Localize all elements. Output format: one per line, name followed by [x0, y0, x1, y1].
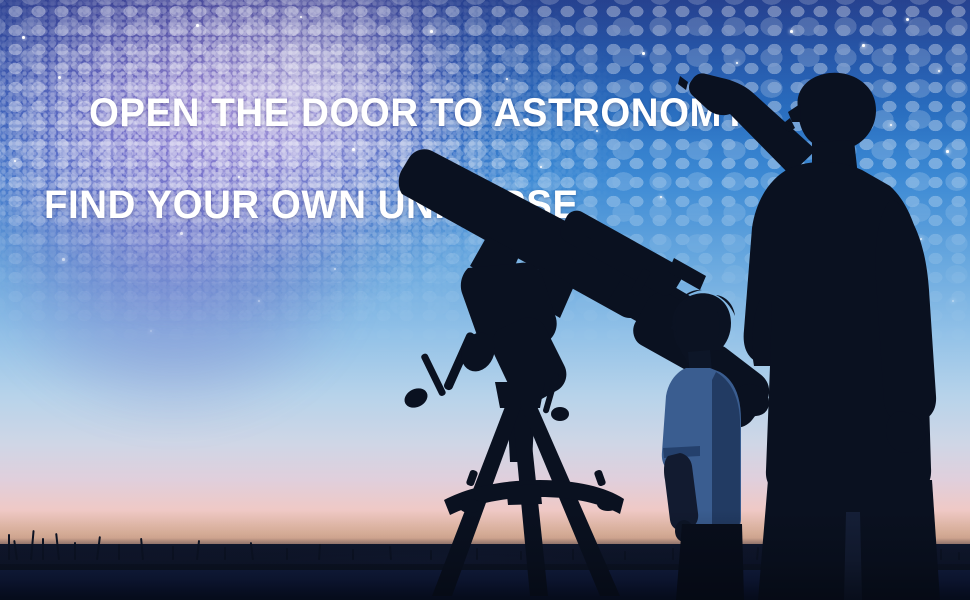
- man-silhouette: [0, 0, 970, 600]
- astronomy-hero-banner: OPEN THE DOOR TO ASTRONOMY FIND YOUR OWN…: [0, 0, 970, 600]
